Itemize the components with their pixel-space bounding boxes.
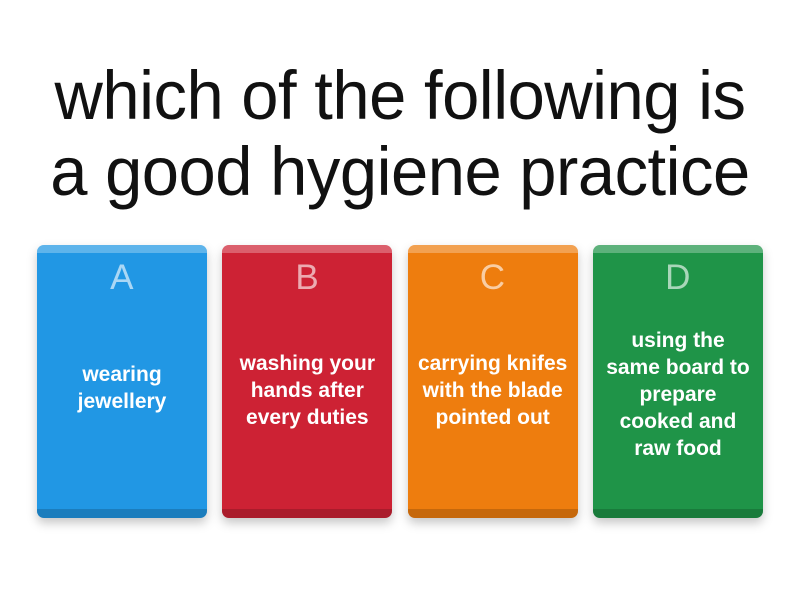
answer-text-d: using the same board to prepare cooked a… [602,327,754,462]
answer-body-c: carrying knifes with the blade pointed o… [408,297,578,518]
answer-letter-d: D [665,259,691,297]
answer-options-row: A wearing jewellery B washing your hands… [37,245,763,520]
answer-letter-b: B [295,259,319,297]
answer-card-d[interactable]: D using the same board to prepare cooked… [593,245,763,518]
answer-text-a: wearing jewellery [46,361,198,415]
answer-body-d: using the same board to prepare cooked a… [593,297,763,518]
answer-letter-a: A [110,259,134,297]
question-title: which of the following is a good hygiene… [12,58,788,210]
answer-body-b: washing your hands after every duties [222,297,392,518]
answer-card-c[interactable]: C carrying knifes with the blade pointed… [408,245,578,518]
answer-body-a: wearing jewellery [37,297,207,518]
quiz-stage: which of the following is a good hygiene… [0,0,800,600]
answer-text-b: washing your hands after every duties [231,350,383,431]
answer-text-c: carrying knifes with the blade pointed o… [417,350,569,431]
answer-card-b[interactable]: B washing your hands after every duties [222,245,392,518]
answer-card-a[interactable]: A wearing jewellery [37,245,207,518]
answer-letter-c: C [480,259,506,297]
